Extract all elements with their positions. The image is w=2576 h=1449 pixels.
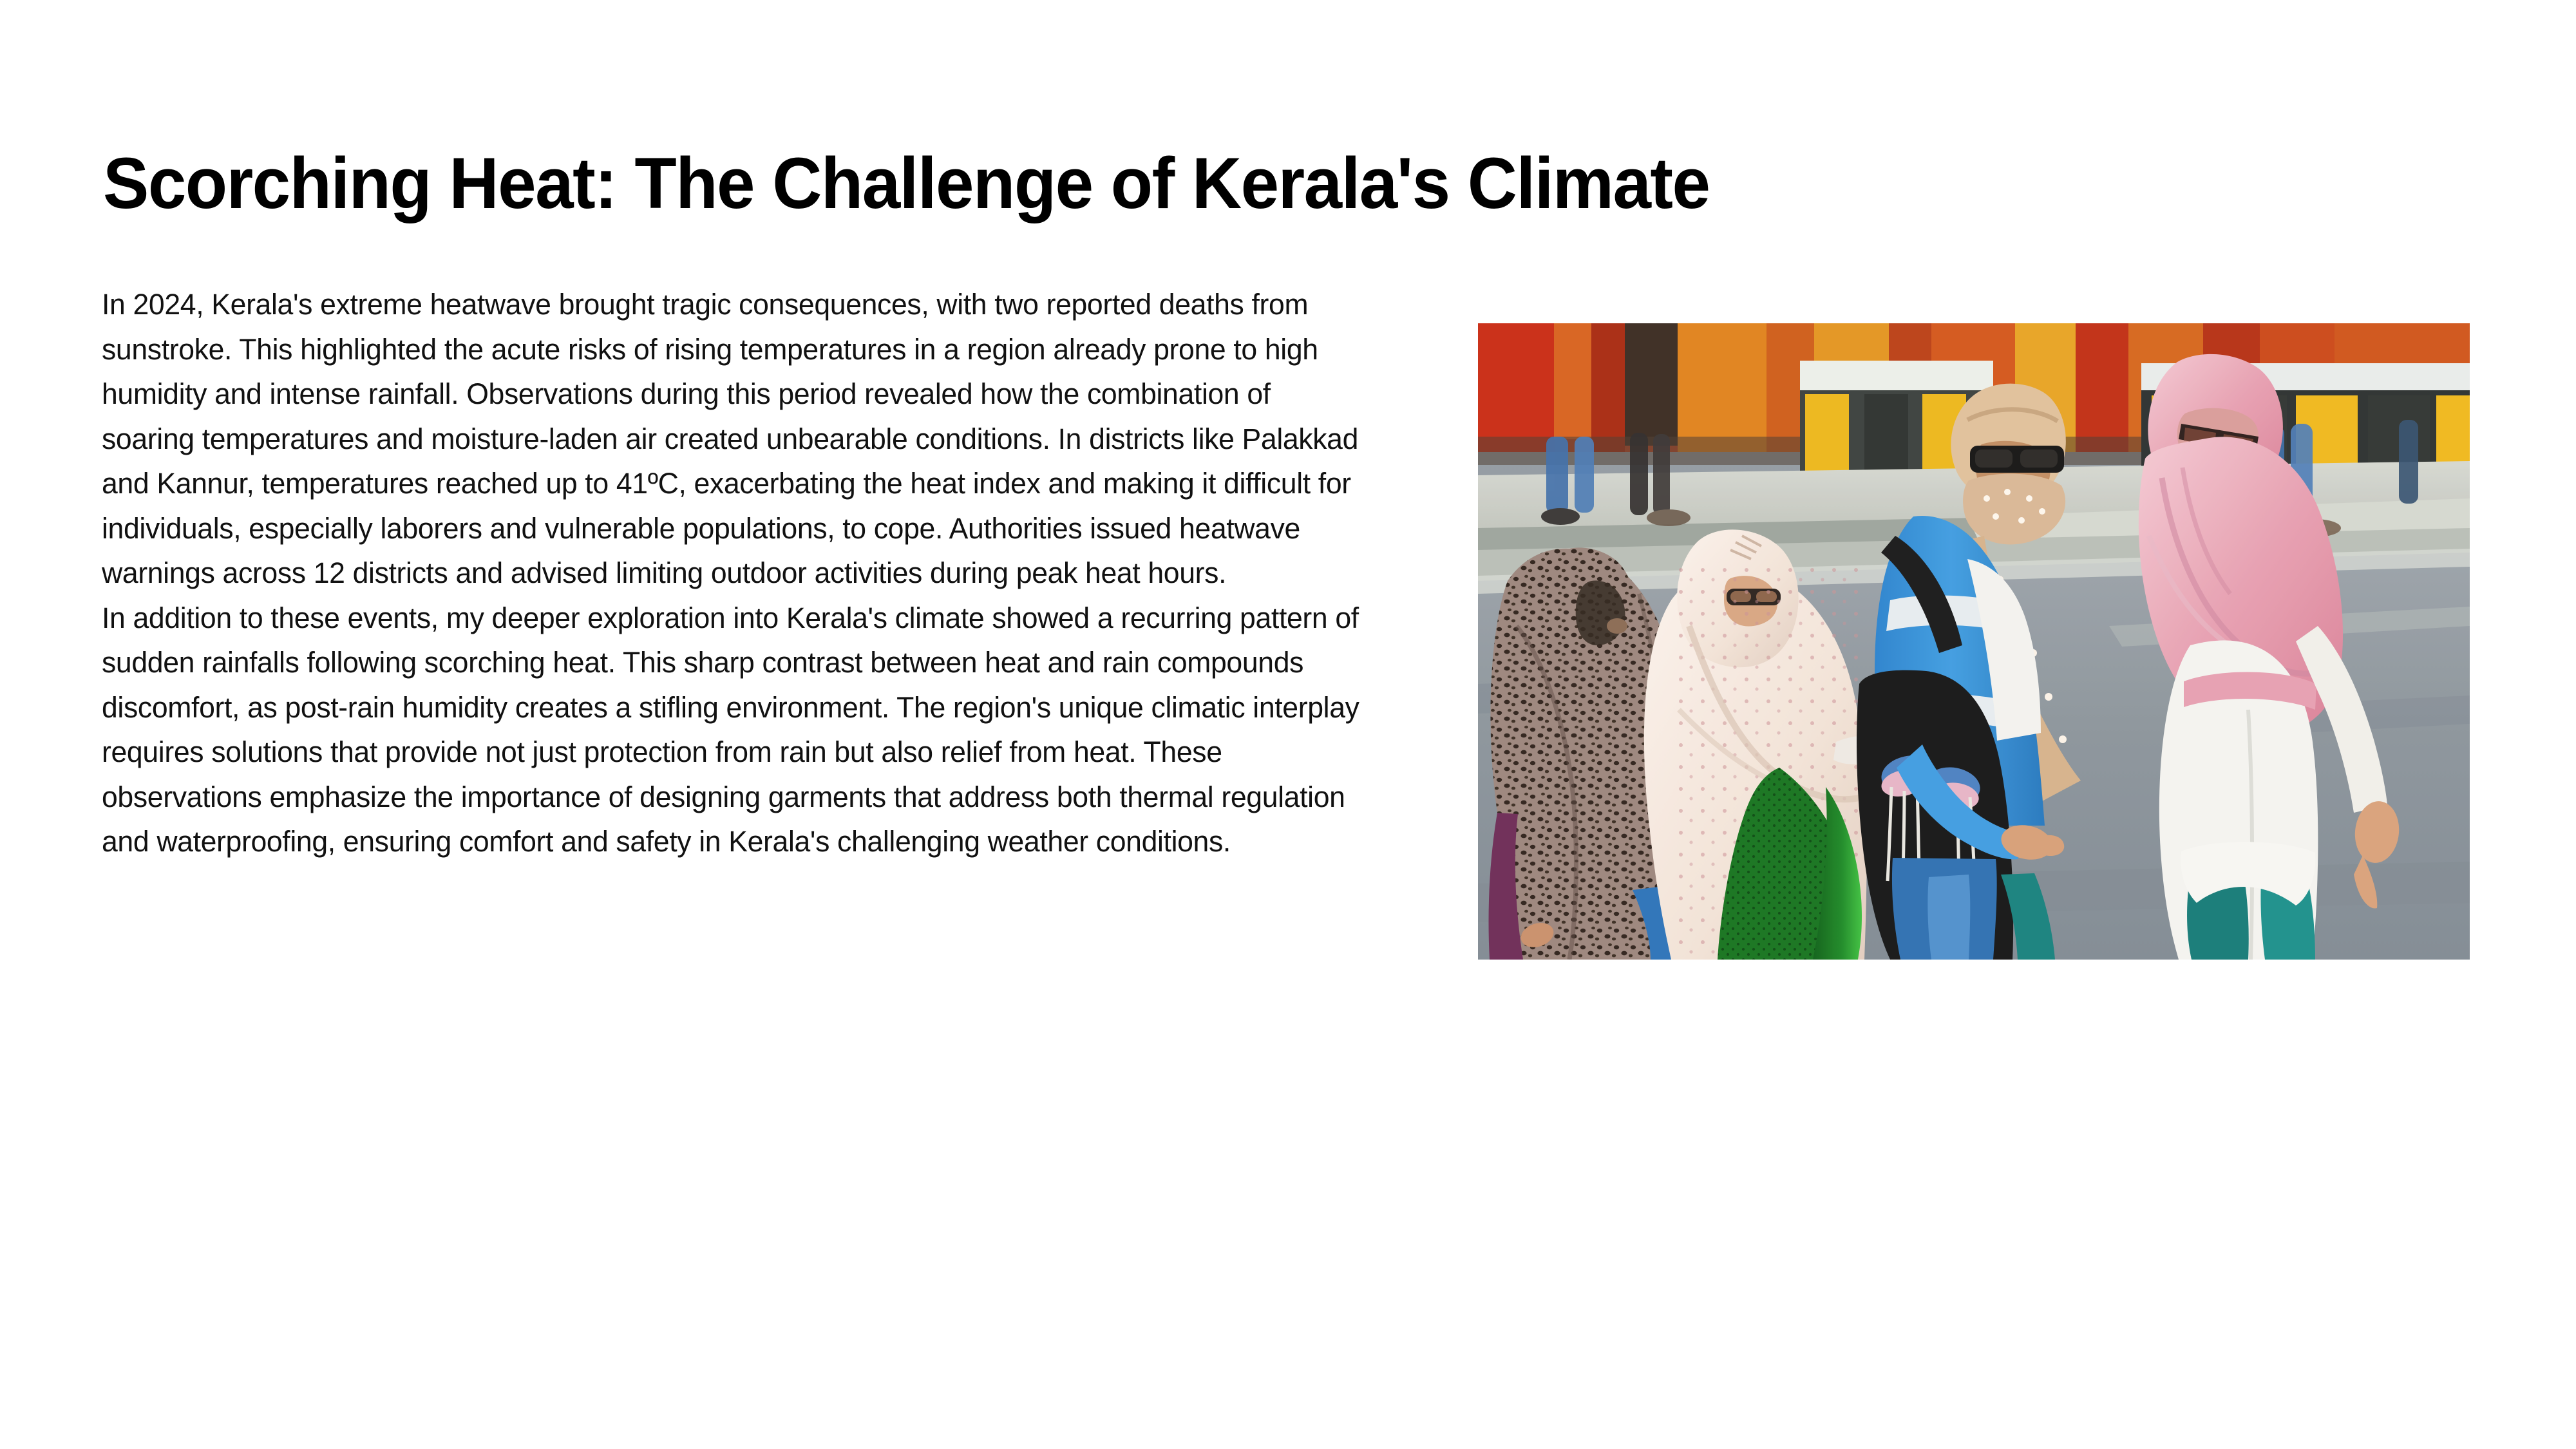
body-paragraph-2: In addition to these events, my deeper e… [102,596,1361,864]
article-body: In 2024, Kerala's extreme heatwave broug… [102,282,1374,864]
heatwave-photo [1478,323,2470,960]
heatwave-photo-image [1478,323,2470,960]
body-paragraph-1: In 2024, Kerala's extreme heatwave broug… [102,282,1361,596]
page-root: Scorching Heat: The Challenge of Kerala'… [0,0,2576,1449]
page-title: Scorching Heat: The Challenge of Kerala'… [103,140,2317,228]
